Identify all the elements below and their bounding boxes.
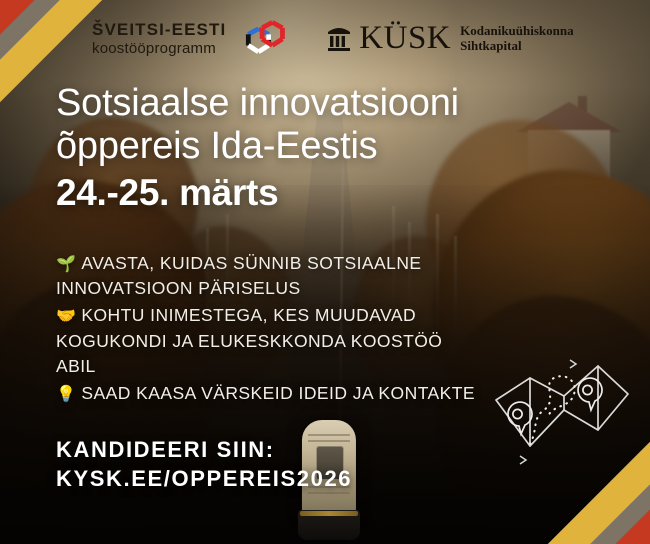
poster-content: Sotsiaalse innovatsiooni õppereis Ida-Ee… [56,82,610,494]
list-item-text: SAAD KAASA VÄRSKEID IDEID JA KONTAKTE [81,383,475,403]
list-item: 💡SAAD KAASA VÄRSKEID IDEID JA KONTAKTE [56,381,486,407]
kusk-tagline-line2: Sihtkapital [460,38,573,53]
headline-line-2: õppereis Ida-Eestis [56,125,377,167]
headline-line-1: Sotsiaalse innovatsiooni [56,82,459,124]
lightbulb-icon: 💡 [56,386,76,403]
classical-building-icon [326,24,352,52]
list-item: 🤝KOHTU INIMESTEGA, KES MUUDAVAD KOGUKOND… [56,303,486,378]
cta-url[interactable]: KYSK.EE/OPPEREIS2026 [56,465,476,494]
bus-stripe [300,511,358,516]
benefits-list: 🌱AVASTA, KUIDAS SÜNNIB SOTSIAALNE INNOVA… [56,251,486,407]
seedling-icon: 🌱 [56,256,76,273]
list-item-text: AVASTA, KUIDAS SÜNNIB SOTSIAALNE INNOVAT… [56,253,422,299]
cta-label: KANDIDEERI SIIN: [56,436,476,465]
list-item-text: KOHTU INIMESTEGA, KES MUUDAVAD KOGUKONDI… [56,305,442,376]
handshake-icon: 🤝 [56,308,76,325]
page-title: Sotsiaalse innovatsiooni õppereis Ida-Ee… [56,82,610,167]
event-date: 24.-25. märts [56,171,610,215]
header-logos: ŠVEITSI-EESTI koostööprogramm [0,0,650,76]
interlocking-hexagons-icon [240,14,288,62]
kusk-logo: KÜSK Kodanikuühiskonna Sihtkapital [326,22,573,55]
list-item: 🌱AVASTA, KUIDAS SÜNNIB SOTSIAALNE INNOVA… [56,251,486,302]
poster-root: ŠVEITSI-EESTI koostööprogramm [0,0,650,544]
sveitsi-eesti-title: ŠVEITSI-EESTI [92,21,226,38]
call-to-action[interactable]: KANDIDEERI SIIN: KYSK.EE/OPPEREIS2026 [56,436,476,493]
kusk-wordmark: KÜSK [359,22,451,55]
sveitsi-eesti-logo: ŠVEITSI-EESTI koostööprogramm [92,21,226,56]
kusk-tagline-line1: Kodanikuühiskonna [460,23,573,38]
sveitsi-eesti-subtitle: koostööprogramm [92,41,226,56]
kusk-tagline: Kodanikuühiskonna Sihtkapital [460,23,573,54]
